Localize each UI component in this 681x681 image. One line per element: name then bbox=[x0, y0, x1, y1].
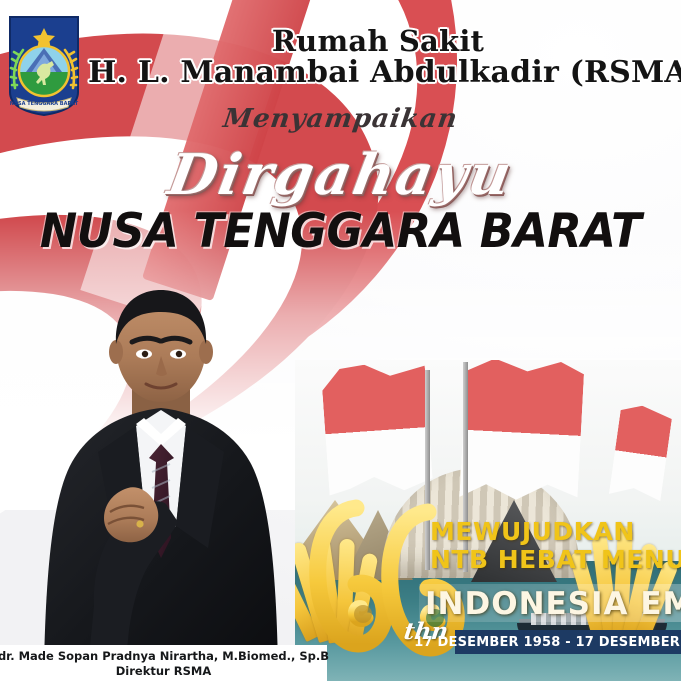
greeting-intro: Menyampaikan bbox=[0, 104, 681, 134]
greeting-headline: NUSA TENGGARA BARAT bbox=[17, 204, 664, 259]
org-title-line-1: Rumah Sakit bbox=[88, 26, 668, 57]
credit-block: dr. Made Sopan Pradnya Nirartha, M.Biome… bbox=[0, 645, 327, 681]
ntb-provincial-emblem: NUSA TENGGARA BARAT bbox=[7, 14, 81, 118]
org-title-line-2: H. L. Manambai Abdulkadir (RSMA) bbox=[88, 57, 668, 89]
organization-title: Rumah Sakit H. L. Manambai Abdulkadir (R… bbox=[88, 26, 668, 89]
slogan-text: MEWUJUDKAN NTB HEBAT MENUJU bbox=[430, 519, 680, 573]
greeting-script: Dirgahayu bbox=[0, 142, 681, 208]
date-range-text: 17 DESEMBER 1958 - 17 DESEMBER 2024 bbox=[414, 635, 681, 650]
slogan-line-2: NTB HEBAT MENUJU bbox=[430, 547, 680, 574]
flag-cloth bbox=[459, 360, 584, 503]
hospital-director-portrait bbox=[28, 276, 294, 666]
credit-name: dr. Made Sopan Pradnya Nirartha, M.Biome… bbox=[0, 649, 329, 663]
slogan-line-1: MEWUJUDKAN bbox=[430, 519, 680, 546]
credit-role: Direktur RSMA bbox=[116, 664, 211, 678]
slogan-line-3: INDONESIA EMAS bbox=[425, 586, 681, 622]
poster-canvas: thn MEWUJUDKAN NTB HEBAT MENUJU INDONESI… bbox=[0, 0, 681, 681]
flag-cloth bbox=[321, 361, 434, 496]
date-range-bar: 17 DESEMBER 1958 - 17 DESEMBER 2024 bbox=[455, 630, 681, 654]
